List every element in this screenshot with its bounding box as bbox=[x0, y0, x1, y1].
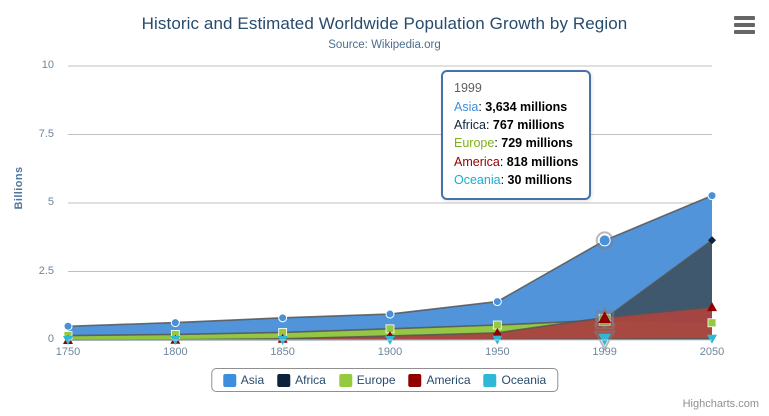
legend-label: Asia bbox=[241, 373, 264, 387]
legend-label: Oceania bbox=[502, 373, 547, 387]
marker-asia-1999[interactable] bbox=[599, 235, 610, 246]
x-axis-tick-2050: 2050 bbox=[700, 346, 724, 358]
legend-item-america[interactable]: America bbox=[409, 373, 471, 387]
x-axis-tick-1999: 1999 bbox=[592, 346, 616, 358]
tooltip-separator: : bbox=[486, 118, 493, 132]
marker-asia-2050[interactable] bbox=[708, 192, 716, 200]
tooltip-rows: Asia: 3,634 millionsAfrica: 767 millions… bbox=[454, 98, 578, 189]
tooltip-row-america: America: 818 millions bbox=[454, 153, 578, 171]
marker-europe-2050[interactable] bbox=[708, 319, 716, 327]
marker-asia-1950[interactable] bbox=[493, 298, 501, 306]
tooltip-row-oceania: Oceania: 30 millions bbox=[454, 171, 578, 189]
y-axis-tick-5: 5 bbox=[10, 196, 54, 208]
highcharts-container: Historic and Estimated Worldwide Populat… bbox=[0, 0, 769, 416]
tooltip-separator: : bbox=[500, 155, 507, 169]
y-axis-tick-10: 10 bbox=[10, 59, 54, 71]
legend-label: Africa bbox=[295, 373, 326, 387]
tooltip-row-africa: Africa: 767 millions bbox=[454, 116, 578, 134]
marker-asia-1850[interactable] bbox=[279, 314, 287, 322]
legend-swatch-oceania-icon bbox=[484, 374, 497, 387]
marker-asia-1750[interactable] bbox=[64, 322, 72, 330]
marker-asia-1800[interactable] bbox=[171, 319, 179, 327]
x-axis-tick-1900: 1900 bbox=[378, 346, 402, 358]
legend-swatch-asia-icon bbox=[223, 374, 236, 387]
tooltip-series-value: 818 millions bbox=[507, 155, 579, 169]
tooltip-series-value: 729 millions bbox=[501, 136, 573, 150]
legend-item-oceania[interactable]: Oceania bbox=[484, 373, 547, 387]
tooltip-series-name: Africa bbox=[454, 118, 486, 132]
chart-tooltip: 1999 Asia: 3,634 millionsAfrica: 767 mil… bbox=[441, 70, 591, 200]
tooltip-header: 1999 bbox=[454, 79, 578, 97]
marker-europe-1950[interactable] bbox=[493, 321, 501, 329]
tooltip-series-value: 3,634 millions bbox=[485, 100, 567, 114]
highcharts-credits[interactable]: Highcharts.com bbox=[683, 398, 759, 410]
tooltip-separator: : bbox=[501, 173, 508, 187]
legend-item-asia[interactable]: Asia bbox=[223, 373, 264, 387]
tooltip-row-europe: Europe: 729 millions bbox=[454, 134, 578, 152]
marker-asia-1900[interactable] bbox=[386, 310, 394, 318]
legend-item-europe[interactable]: Europe bbox=[339, 373, 396, 387]
tooltip-series-name: Europe bbox=[454, 136, 494, 150]
legend-swatch-america-icon bbox=[409, 374, 422, 387]
x-axis-tick-1950: 1950 bbox=[485, 346, 509, 358]
y-axis-tick-0: 0 bbox=[10, 333, 54, 345]
y-axis-tick-2.5: 2.5 bbox=[10, 265, 54, 277]
legend-label: America bbox=[427, 373, 471, 387]
tooltip-row-asia: Asia: 3,634 millions bbox=[454, 98, 578, 116]
legend-item-africa[interactable]: Africa bbox=[277, 373, 326, 387]
x-axis-tick-1800: 1800 bbox=[163, 346, 187, 358]
legend-label: Europe bbox=[357, 373, 396, 387]
tooltip-series-name: America bbox=[454, 155, 500, 169]
chart-legend: AsiaAfricaEuropeAmericaOceania bbox=[211, 368, 558, 392]
x-axis-tick-1850: 1850 bbox=[270, 346, 294, 358]
tooltip-series-name: Oceania bbox=[454, 173, 501, 187]
y-axis-tick-7.5: 7.5 bbox=[10, 128, 54, 140]
tooltip-series-value: 767 millions bbox=[493, 118, 565, 132]
y-axis-labels: 02.557.510 bbox=[10, 0, 54, 416]
tooltip-series-value: 30 millions bbox=[508, 173, 573, 187]
legend-swatch-europe-icon bbox=[339, 374, 352, 387]
tooltip-series-name: Asia bbox=[454, 100, 478, 114]
legend-swatch-africa-icon bbox=[277, 374, 290, 387]
x-axis-tick-1750: 1750 bbox=[56, 346, 80, 358]
